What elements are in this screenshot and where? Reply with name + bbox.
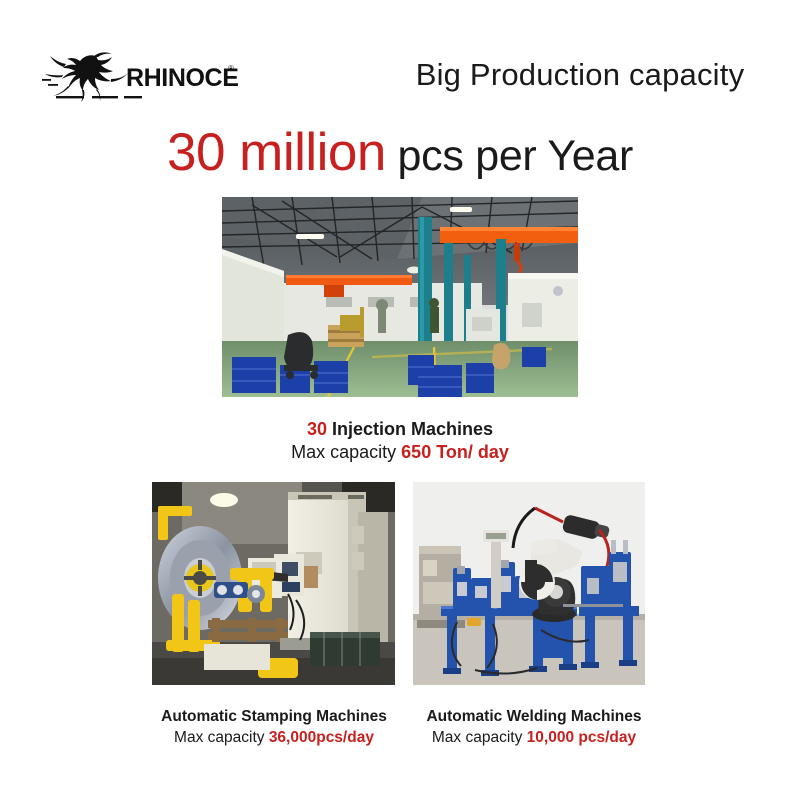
welding-machine-photo	[413, 482, 645, 685]
welding-caption: Automatic Welding Machines Max capacity …	[400, 706, 668, 748]
stamping-caption-line1: Automatic Stamping Machines	[140, 706, 408, 727]
brand-logo: RHINOCEROS ®	[38, 48, 238, 104]
welding-caption-line2: Max capacity 10,000 pcs/day	[400, 727, 668, 748]
injection-machine-count: 30	[307, 419, 327, 439]
injection-caption-line2: Max capacity 650 Ton/ day	[0, 441, 800, 464]
welding-caption-line1: Automatic Welding Machines	[400, 706, 668, 727]
stamping-capacity-value: 36,000pcs/day	[269, 729, 374, 746]
stamping-capacity-label: Max capacity	[174, 729, 269, 746]
rhinoceros-silhouette-icon	[45, 52, 128, 102]
injection-caption-line1: 30 Injection Machines	[0, 418, 800, 441]
logo-wordmark: RHINOCEROS	[126, 64, 238, 92]
welding-capacity-label: Max capacity	[432, 729, 527, 746]
headline-rest: pcs per Year	[386, 132, 633, 180]
injection-capacity-label: Max capacity	[291, 442, 401, 462]
page-title: Big Production capacity	[395, 57, 765, 93]
stamping-machine-photo	[152, 482, 395, 685]
stamping-caption: Automatic Stamping Machines Max capacity…	[140, 706, 408, 748]
injection-caption: 30 Injection Machines Max capacity 650 T…	[0, 418, 800, 464]
injection-capacity-value: 650 Ton/ day	[401, 442, 509, 462]
headline-highlight: 30 million	[167, 123, 386, 182]
stamping-caption-line2: Max capacity 36,000pcs/day	[140, 727, 408, 748]
injection-workshop-photo	[222, 197, 578, 397]
logo-registered-mark: ®	[228, 64, 234, 73]
poster-canvas: RHINOCEROS ® Big Production capacity 30 …	[0, 0, 800, 800]
headline: 30 million pcs per Year	[0, 122, 800, 183]
injection-caption-line1-rest: Injection Machines	[327, 419, 493, 439]
welding-capacity-value: 10,000 pcs/day	[527, 729, 636, 746]
header: RHINOCEROS ® Big Production capacity	[0, 0, 800, 118]
